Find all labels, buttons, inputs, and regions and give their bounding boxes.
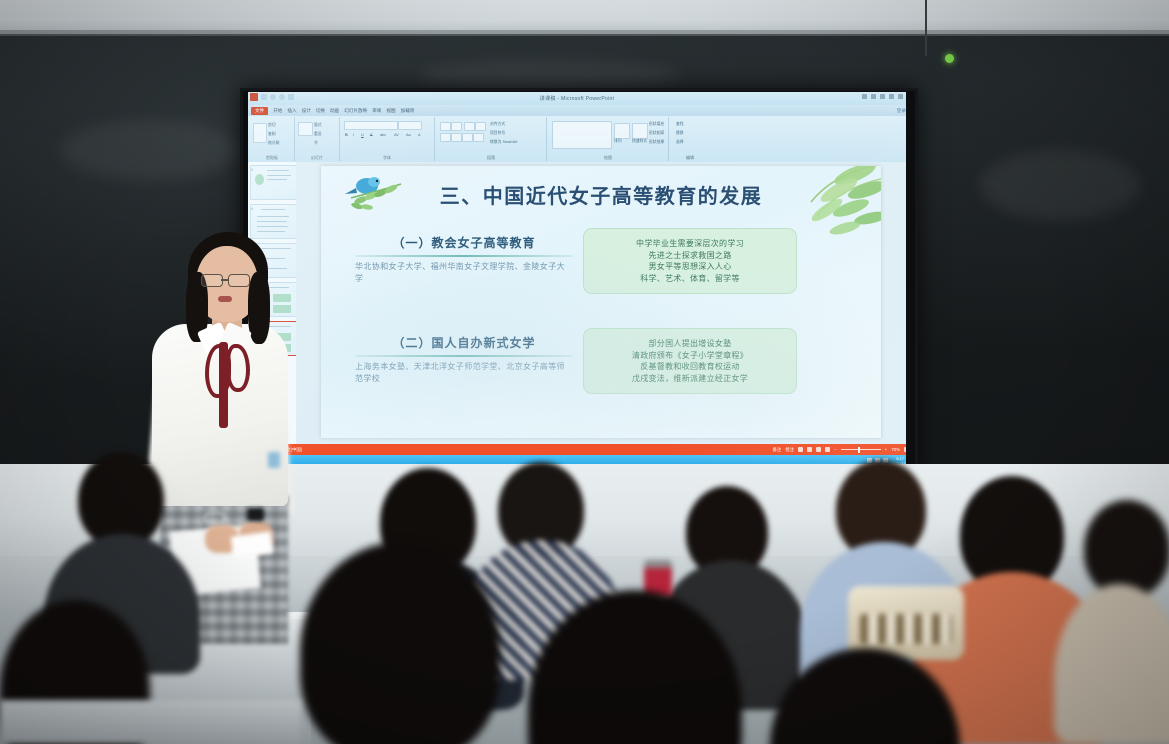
tab-animations[interactable]: 动画 xyxy=(330,108,339,114)
underline-button[interactable]: U xyxy=(361,133,364,137)
slide-canvas[interactable]: 三、中国近代女子高等教育的发展 （一）教会女子高等教育 华北协和女子大学、福州华… xyxy=(296,162,906,444)
ribbon-group-slides[interactable]: 版式 重设 节 幻灯片 xyxy=(295,117,340,161)
copy-button[interactable]: 复制 xyxy=(268,132,276,137)
section-1-subtext: 华北协和女子大学、福州华南女子文理学院、金陵女子大学 xyxy=(355,261,573,285)
new-slide-button[interactable] xyxy=(298,122,313,136)
titlebar-text: 讲课稿 - Microsoft PowerPoint xyxy=(540,95,614,102)
ribbon-options-icon[interactable] xyxy=(871,94,876,99)
thumbnail-number: 4 xyxy=(251,207,253,211)
fit-to-window-button[interactable] xyxy=(904,447,906,452)
ribbon-group-editing[interactable]: 查找 替换 选择 编辑 xyxy=(670,117,710,161)
tab-transitions[interactable]: 切换 xyxy=(316,108,325,114)
italic-button[interactable]: I xyxy=(353,133,354,137)
glasses-bridge xyxy=(221,279,228,281)
find-button[interactable]: 查找 xyxy=(676,122,684,127)
presenter-watch xyxy=(247,508,264,521)
undo-icon[interactable] xyxy=(270,94,276,100)
ribbon-tie xyxy=(219,342,228,428)
handbag-pattern xyxy=(860,614,952,644)
zoom-level-label[interactable]: 70% xyxy=(891,447,900,452)
section-1-heading: （一）教会女子高等教育 xyxy=(355,234,573,251)
numbering-button[interactable] xyxy=(451,122,462,131)
section-1-rule xyxy=(355,255,573,257)
glasses-lens-left xyxy=(201,274,223,287)
select-button[interactable]: 选择 xyxy=(676,140,684,145)
ribbon-group-drawing[interactable]: 排列 快速样式 形状填充 形状轮廓 形状效果 绘图 xyxy=(548,117,669,161)
save-icon[interactable] xyxy=(261,94,267,100)
comments-button[interactable]: 批注 xyxy=(785,447,794,453)
restore-icon[interactable] xyxy=(889,94,894,99)
callout-line: 清政府颁布《女子小学堂章程》 xyxy=(632,350,748,362)
shape-fill-button[interactable]: 形状填充 xyxy=(649,122,664,127)
ribbon-group-paragraph[interactable]: 对齐方式 项目符号 转换为 SmartArt 段落 xyxy=(436,117,547,161)
ribbon-group-label-paragraph: 段落 xyxy=(436,155,546,161)
chalk-smudge xyxy=(980,150,1140,220)
section-2-rule xyxy=(355,355,573,357)
quick-styles-label: 快速样式 xyxy=(632,139,647,144)
close-icon[interactable] xyxy=(898,94,903,99)
ribbon-group-label-drawing: 绘图 xyxy=(548,155,668,161)
presenter-mouth xyxy=(218,296,232,302)
minimize-icon[interactable] xyxy=(880,94,885,99)
blackboard-frame xyxy=(0,30,1169,36)
callout-line: 部分国人提出增设女塾 xyxy=(649,338,732,350)
presenter-badge xyxy=(268,452,280,468)
titlebar: 讲课稿 - Microsoft PowerPoint xyxy=(248,92,906,105)
ribbon[interactable]: 剪切 复制 格式刷 剪贴板 版式 重设 节 幻灯片 B I U xyxy=(248,116,906,163)
bold-button[interactable]: B xyxy=(345,133,348,137)
powerpoint-logo-icon xyxy=(250,93,258,101)
shape-outline-button[interactable]: 形状轮廓 xyxy=(649,131,664,136)
classroom-scene: 讲课稿 - Microsoft PowerPoint xyxy=(0,0,1169,744)
status-bar[interactable]: 共 11 张 中文(中国) 备注 批注 − + 70% xyxy=(248,444,906,455)
callout-line: 反基督教和收回教育权运动 xyxy=(640,361,740,373)
notes-button[interactable]: 备注 xyxy=(772,447,781,453)
text-direction-button[interactable]: 对齐方式 xyxy=(490,122,505,127)
ribbon-group-label-clipboard: 剪贴板 xyxy=(250,155,294,161)
chalk-smudge xyxy=(420,60,680,90)
slide-section-1: （一）教会女子高等教育 华北协和女子大学、福州华南女子文理学院、金陵女子大学 xyxy=(355,234,573,285)
increase-indent-button[interactable] xyxy=(475,122,486,131)
ribbon-tabs[interactable]: 文件 开始 插入 设计 切换 动画 幻灯片放映 审阅 视图 加载项 登录 xyxy=(248,105,906,116)
font-size-select[interactable] xyxy=(398,121,422,130)
callout-line: 中学毕业生需要深层次的学习 xyxy=(636,238,744,250)
slide-title: 三、中国近代女子高等教育的发展 xyxy=(321,180,881,209)
ribbon-group-font[interactable]: B I U S abc AV Aa A 字体 xyxy=(340,117,435,161)
powerpoint-window[interactable]: 讲课稿 - Microsoft PowerPoint xyxy=(248,92,906,466)
front-desk-edge xyxy=(0,700,300,744)
quick-access-toolbar[interactable] xyxy=(250,93,294,101)
tab-view[interactable]: 视图 xyxy=(386,108,395,114)
ribbon-group-label-slides: 幻灯片 xyxy=(295,155,339,161)
help-icon[interactable] xyxy=(862,94,867,99)
convert-smartart-button[interactable]: 转换为 SmartArt xyxy=(490,140,517,145)
cut-button[interactable]: 剪切 xyxy=(268,123,276,128)
arrange-button[interactable] xyxy=(614,123,630,139)
paste-button[interactable] xyxy=(253,123,267,143)
redo-icon[interactable] xyxy=(279,94,285,100)
slide-section-2: （二）国人自办新式女学 上海务本女塾、天津北洋女子师范学堂、北京女子高等师范学校 xyxy=(355,334,573,385)
zoom-out-button[interactable]: − xyxy=(834,447,837,452)
change-case-button[interactable]: Aa xyxy=(406,133,411,137)
shape-effects-button[interactable]: 形状效果 xyxy=(649,140,664,145)
font-family-select[interactable] xyxy=(344,121,398,130)
view-normal-button[interactable] xyxy=(798,447,803,452)
signin-label[interactable]: 登录 xyxy=(897,108,906,114)
tab-slideshow[interactable]: 幻灯片放映 xyxy=(344,108,367,114)
ribbon-group-clipboard[interactable]: 剪切 复制 格式刷 剪贴板 xyxy=(250,117,295,161)
section-2-heading: （二）国人自办新式女学 xyxy=(355,334,573,351)
chalk-smudge xyxy=(60,120,240,180)
justify-button[interactable] xyxy=(473,133,484,142)
customize-icon[interactable] xyxy=(288,94,294,100)
tab-home[interactable]: 开始 xyxy=(273,108,282,114)
align-center-button[interactable] xyxy=(451,133,462,142)
section-1-callout: 中学毕业生需要深层次的学习 先进之士探求救国之路 男女平等思想深入人心 科学、艺… xyxy=(583,228,797,294)
section-2-subtext: 上海务本女塾、天津北洋女子师范学堂、北京女子高等师范学校 xyxy=(355,361,573,385)
format-painter-button[interactable]: 格式刷 xyxy=(268,141,279,146)
zoom-slider[interactable] xyxy=(841,449,881,450)
sensor-indicator-light xyxy=(945,54,954,63)
strikethrough-button[interactable]: S xyxy=(370,133,373,137)
ribbon-group-label-font: 字体 xyxy=(340,155,434,161)
callout-line: 男女平等思想深入人心 xyxy=(649,261,732,273)
zoom-in-button[interactable]: + xyxy=(885,447,888,452)
tab-review[interactable]: 审阅 xyxy=(372,108,381,114)
char-spacing-button[interactable]: AV xyxy=(394,133,399,137)
shapes-gallery[interactable] xyxy=(552,121,612,149)
slide-thumbnail[interactable]: 4 xyxy=(250,204,298,239)
callout-line: 戊戌变法，维新派建立经正女学 xyxy=(632,373,748,385)
tab-addins[interactable]: 加载项 xyxy=(401,108,415,114)
align-text-button[interactable]: 项目符号 xyxy=(490,131,505,136)
presenter-bracelet xyxy=(204,512,226,524)
view-reading-button[interactable] xyxy=(816,447,821,452)
sensor-wire xyxy=(925,0,927,56)
view-slideshow-button[interactable] xyxy=(825,447,830,452)
view-slide-sorter-button[interactable] xyxy=(807,447,812,452)
zoom-slider-handle[interactable] xyxy=(858,447,860,453)
section-button[interactable]: 节 xyxy=(314,141,318,146)
replace-button[interactable]: 替换 xyxy=(676,131,684,136)
glasses-lens-right xyxy=(228,274,250,287)
align-right-button[interactable] xyxy=(462,133,473,142)
callout-line: 先进之士探求救国之路 xyxy=(649,250,732,262)
reset-button[interactable]: 重设 xyxy=(314,132,322,137)
ribbon-loop-right xyxy=(226,344,250,392)
tab-design[interactable]: 设计 xyxy=(302,108,311,114)
quick-styles-button[interactable] xyxy=(632,123,648,139)
arrange-label: 排列 xyxy=(614,139,622,144)
callout-line: 科学、艺术、体育、留学等 xyxy=(640,273,740,285)
decrease-indent-button[interactable] xyxy=(464,122,475,131)
current-slide[interactable]: 三、中国近代女子高等教育的发展 （一）教会女子高等教育 华北协和女子大学、福州华… xyxy=(321,166,881,438)
bullets-button[interactable] xyxy=(440,122,451,131)
display-screen[interactable]: 讲课稿 - Microsoft PowerPoint xyxy=(248,92,906,466)
slide-thumbnail[interactable]: 3 xyxy=(250,165,298,200)
layout-button[interactable]: 版式 xyxy=(314,123,322,128)
thumbnail-number: 3 xyxy=(251,168,253,172)
font-color-button[interactable]: A xyxy=(418,133,421,137)
ribbon-group-label-editing: 编辑 xyxy=(670,155,710,161)
tab-file[interactable]: 文件 xyxy=(251,107,268,115)
align-left-button[interactable] xyxy=(440,133,451,142)
upper-wall xyxy=(0,0,1169,34)
section-2-callout: 部分国人提出增设女塾 清政府颁布《女子小学堂章程》 反基督教和收回教育权运动 戊… xyxy=(583,328,797,394)
window-buttons[interactable] xyxy=(862,94,903,99)
shadow-button[interactable]: abc xyxy=(380,133,386,137)
tab-insert[interactable]: 插入 xyxy=(287,108,296,114)
